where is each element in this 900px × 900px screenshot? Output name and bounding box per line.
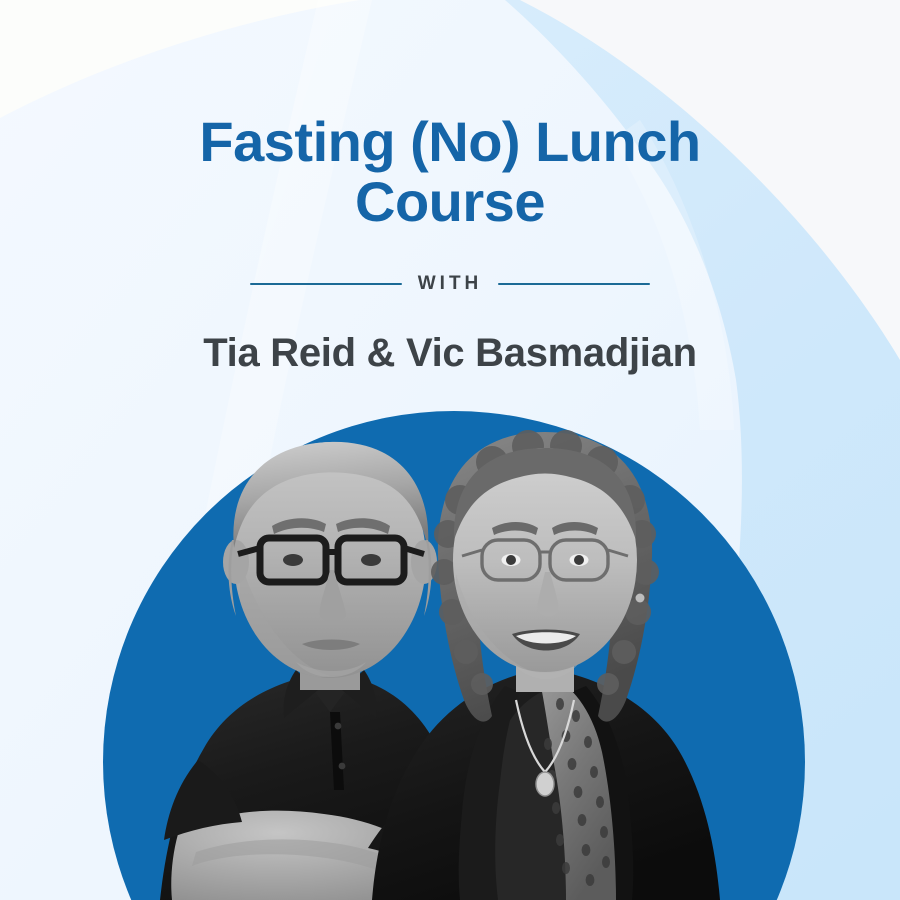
title-line-2: Course [130, 172, 770, 232]
with-divider: WITH [250, 273, 650, 295]
man-button-bottom [339, 763, 346, 770]
man-ear-left [223, 540, 249, 584]
page-title: Fasting (No) Lunch Course [130, 112, 770, 233]
title-line-1: Fasting (No) Lunch [130, 112, 770, 172]
man-eye-left [283, 554, 303, 566]
divider-rule-left [250, 283, 402, 285]
man-eye-right [361, 554, 381, 566]
divider-rule-right [498, 283, 650, 285]
presenter-names: Tia Reid & Vic Basmadjian [203, 331, 696, 376]
course-promo-card: Fasting (No) Lunch Course WITH Tia Reid … [0, 0, 900, 900]
woman-earring [636, 594, 645, 603]
man-button-top [335, 723, 342, 730]
divider-label: WITH [418, 273, 483, 295]
woman-necklace-pendant [536, 772, 554, 796]
